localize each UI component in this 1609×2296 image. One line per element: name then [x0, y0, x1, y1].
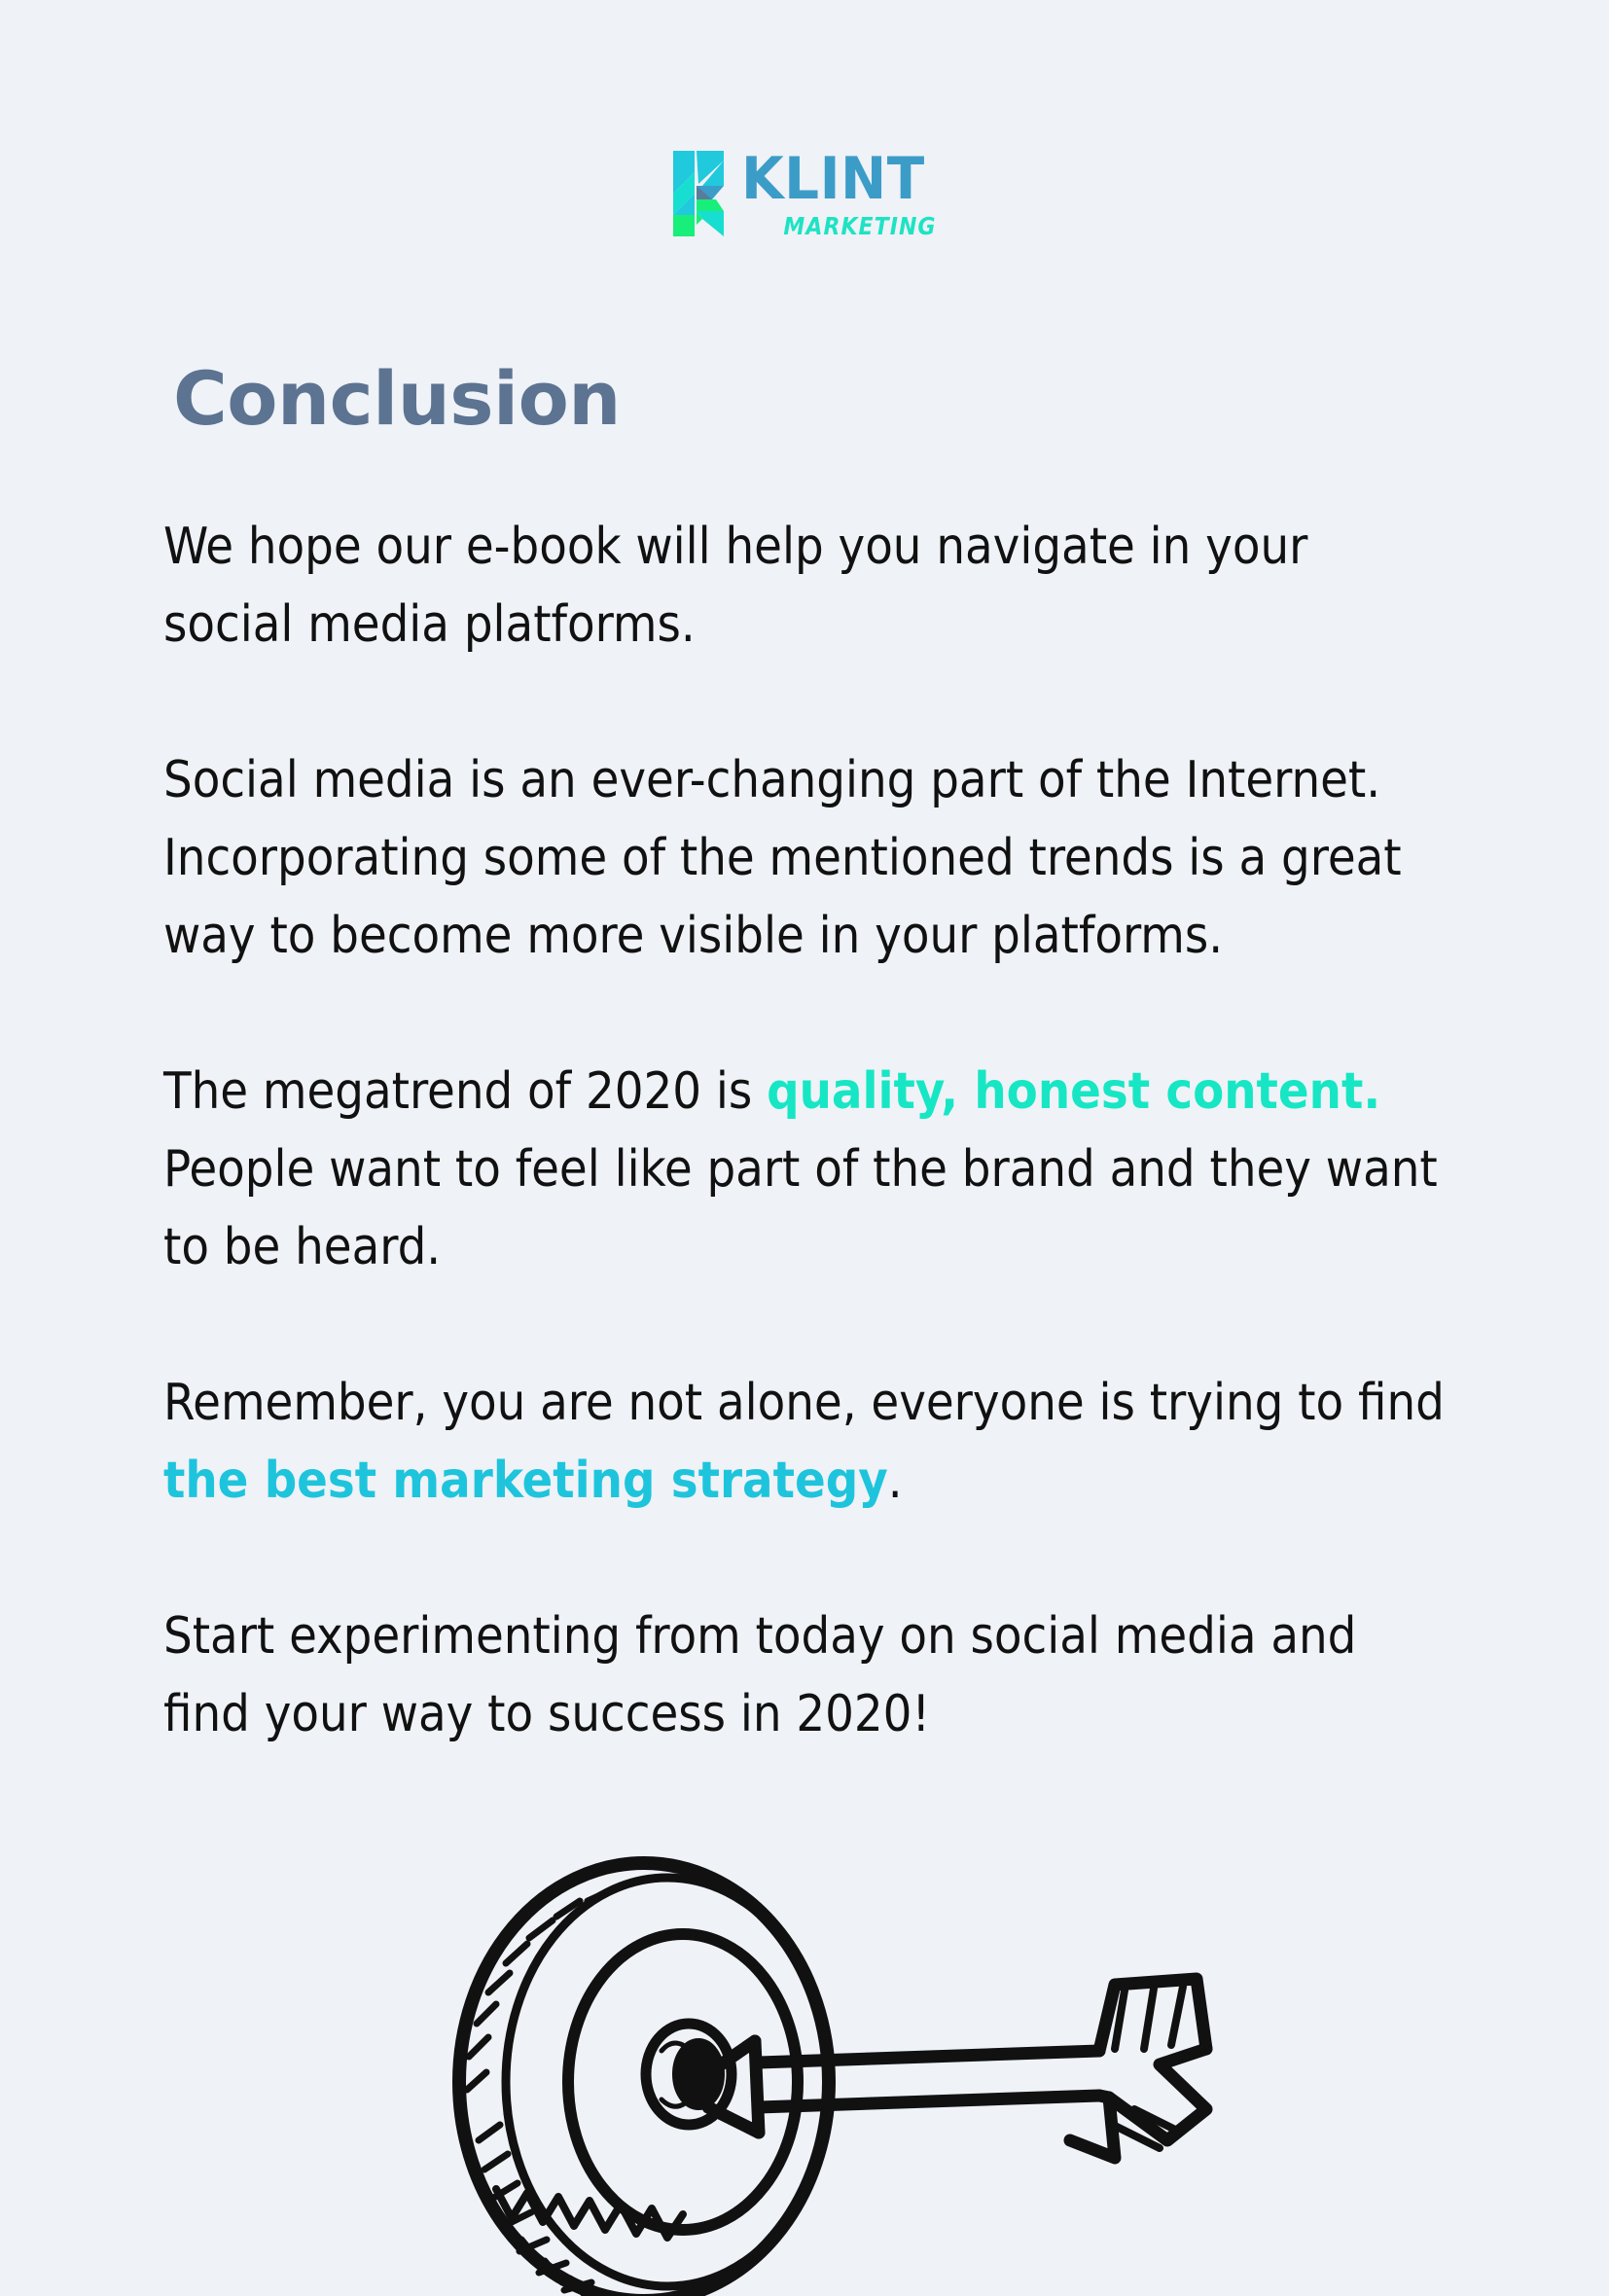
body-copy: We hope our e-book will help you navigat… [163, 508, 1448, 1753]
highlight-quality-honest-content: quality, honest content. [767, 1062, 1380, 1121]
paragraph-remember: Remember, you are not alone, everyone is… [163, 1364, 1448, 1520]
logo-tagline: MARKETING [783, 214, 936, 238]
paragraph-social-media-change: Social media is an ever-changing part of… [163, 741, 1448, 975]
text-run: The megatrend of 2020 is [163, 1062, 767, 1121]
paragraph-megatrend: The megatrend of 2020 is quality, honest… [163, 1053, 1448, 1286]
bullseye-target-with-arrow-illustration [428, 1848, 1226, 2296]
klint-k-mark-icon [673, 151, 726, 236]
logo-wordmark: KLINT [741, 151, 925, 208]
text-run: . [888, 1452, 903, 1510]
page-title: Conclusion [173, 362, 621, 436]
text-run: People want to feel like part of the bra… [163, 1140, 1438, 1276]
brand-logo: KLINT MARKETING [0, 151, 1609, 238]
text-run: Start experimenting from today on social… [163, 1607, 1356, 1743]
text-run: We hope our e-book will help you navigat… [163, 518, 1307, 654]
text-run: Remember, you are not alone, everyone is… [163, 1374, 1445, 1432]
text-run: Social media is an ever-changing part of… [163, 751, 1402, 965]
paragraph-start-experimenting: Start experimenting from today on social… [163, 1597, 1448, 1753]
paragraph-intro: We hope our e-book will help you navigat… [163, 508, 1448, 664]
highlight-best-marketing-strategy: the best marketing strategy [163, 1452, 888, 1510]
